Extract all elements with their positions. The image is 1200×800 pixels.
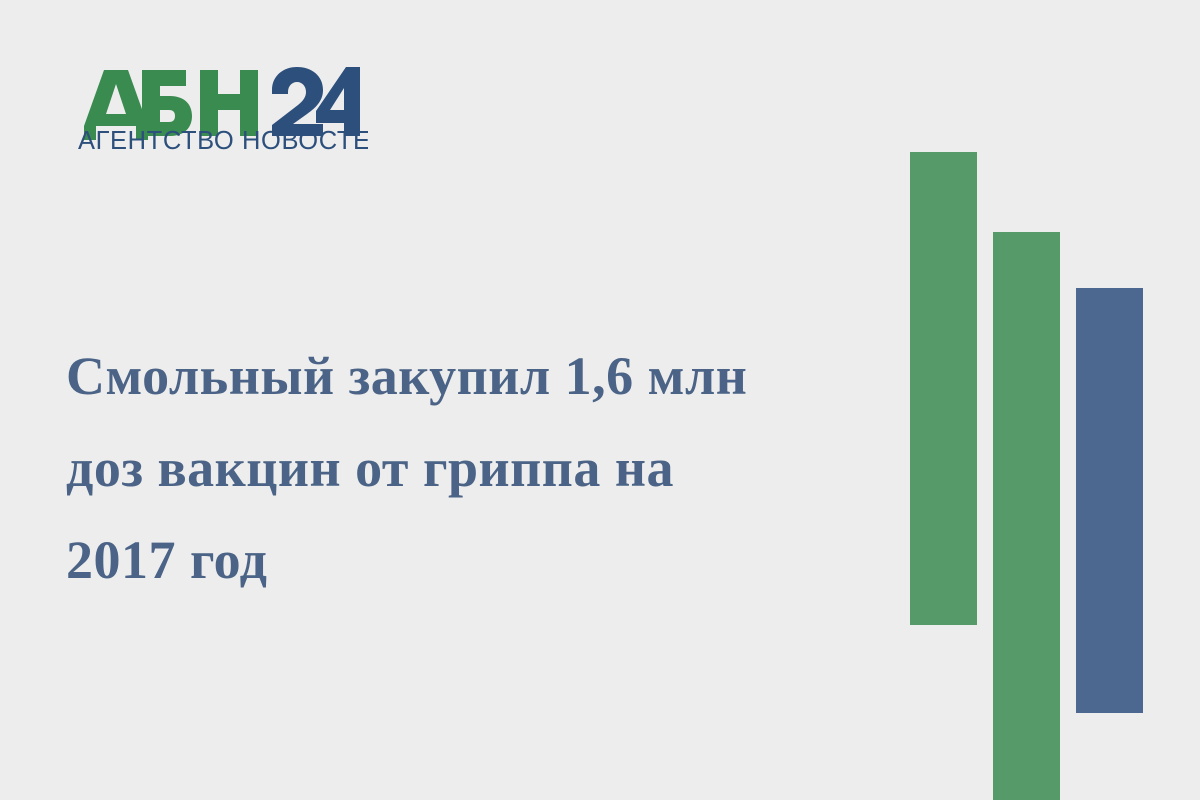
decorative-bar-2 [993,232,1060,800]
logo-tagline-graphic: АГЕНТСТВО НОВОСТЕЙ [78,126,368,156]
decorative-bar-3 [1076,288,1143,713]
headline-line-1: Смольный закупил 1,6 млн [66,330,866,422]
page-title: Смольный закупил 1,6 млн доз вакцин от г… [66,330,866,606]
decorative-bar-1 [910,152,977,625]
news-card: АГЕНТСТВО НОВОСТЕЙ Смольный закупил 1,6 … [0,0,1200,800]
headline-line-2: доз вакцин от гриппа на [66,422,866,514]
logo-tagline: АГЕНТСТВО НОВОСТЕЙ [78,126,368,155]
headline-line-3: 2017 год [66,514,866,606]
logo[interactable]: АГЕНТСТВО НОВОСТЕЙ [78,64,378,156]
